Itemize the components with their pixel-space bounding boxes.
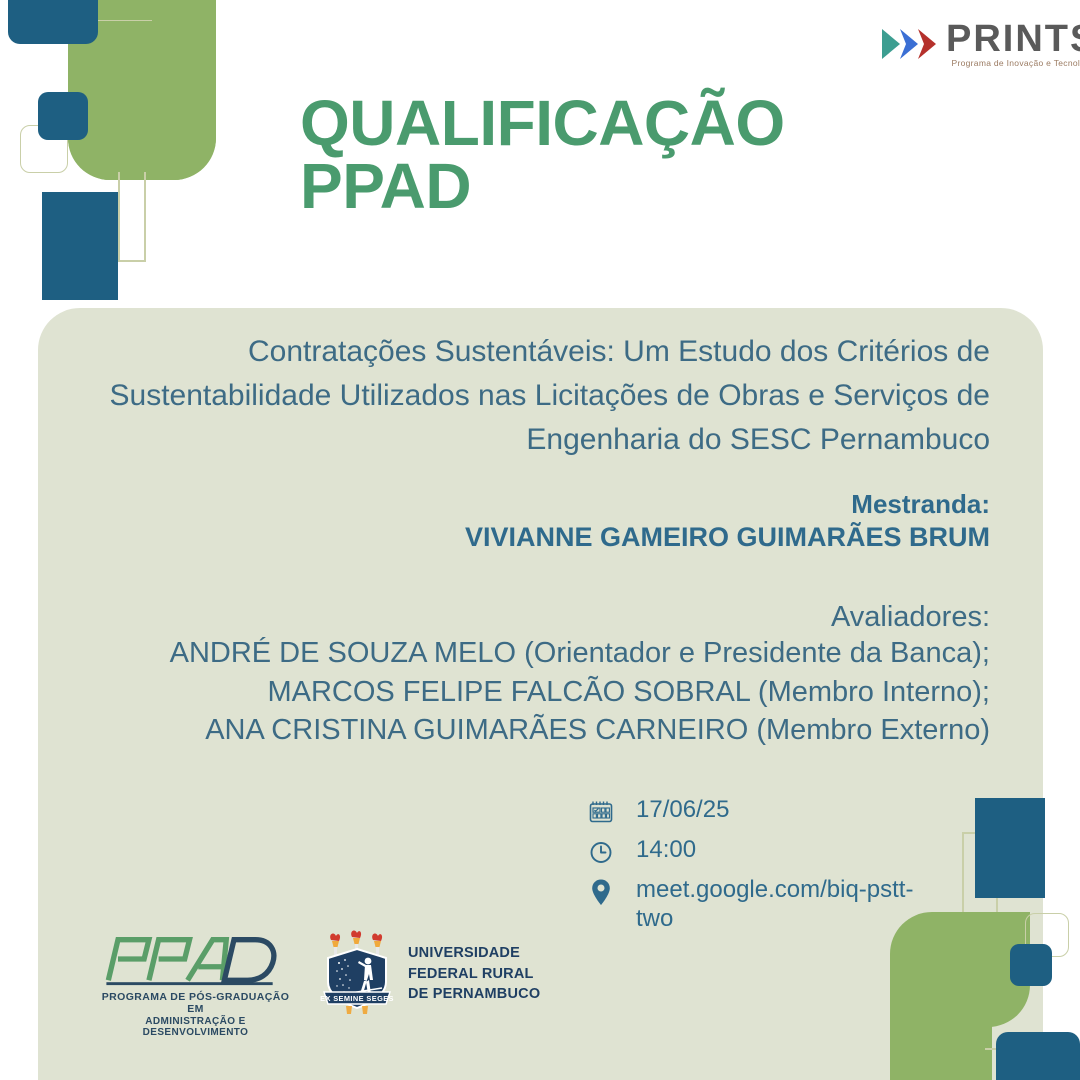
ufrpe-name: UNIVERSIDADE FEDERAL RURAL DE PERNAMBUCO xyxy=(408,943,540,1005)
ppad-wordmark-icon xyxy=(98,930,283,988)
decor-line-top-left-2 xyxy=(118,172,120,262)
decor-blue-pill-bottom-right xyxy=(996,1032,1080,1080)
location-pin-icon xyxy=(588,877,622,907)
event-info: 17/06/25 14:00 meet.google.com/biq-pstt-… xyxy=(588,795,918,942)
candidate-role-label: Mestranda: xyxy=(90,489,990,520)
decor-line-top-left-3 xyxy=(118,260,146,262)
thesis-title: Contratações Sustentáveis: Um Estudo dos… xyxy=(90,330,990,461)
ppad-subtitle-line-1: PROGRAMA DE PÓS-GRADUAÇÃO EM xyxy=(98,991,293,1015)
ufrpe-logo: EX SEMINE SEGES UNIVERSIDADE FEDERAL RUR… xyxy=(318,930,540,1018)
decor-green-block-bottom-right-lower xyxy=(890,985,992,1080)
candidate-name: VIVIANNE GAMEIRO GUIMARÃES BRUM xyxy=(90,522,990,553)
ufrpe-motto: EX SEMINE SEGES xyxy=(320,994,394,1003)
decor-line-top-left-4 xyxy=(144,172,146,262)
decor-line-bottom-right-1 xyxy=(962,832,964,918)
ufrpe-name-line-2: FEDERAL RURAL xyxy=(408,964,540,985)
prints-logo: PRINTS Programa de Inovação e Tecnologia xyxy=(880,18,1070,70)
page-title: QUALIFICAÇÃO PPAD xyxy=(300,92,1000,217)
poster-canvas: PRINTS Programa de Inovação e Tecnologia… xyxy=(0,0,1080,1080)
evaluator-item: ANA CRISTINA GUIMARÃES CARNEIRO (Membro … xyxy=(90,711,990,749)
decor-blue-square-top-left xyxy=(38,92,88,140)
event-time-row: 14:00 xyxy=(588,835,918,867)
event-location-row[interactable]: meet.google.com/biq-pstt-two xyxy=(588,875,918,934)
event-date-row: 17/06/25 xyxy=(588,795,918,827)
event-time: 14:00 xyxy=(636,835,696,864)
evaluators-block: Avaliadores: ANDRÉ DE SOUZA MELO (Orient… xyxy=(90,601,990,749)
page-title-line-2: PPAD xyxy=(300,155,1000,218)
decor-line-top-left-1 xyxy=(92,20,152,21)
decor-blue-block-top-left xyxy=(8,0,98,44)
page-title-line-1: QUALIFICAÇÃO xyxy=(300,92,1000,155)
chevron-triple-icon xyxy=(880,27,940,61)
evaluator-item: ANDRÉ DE SOUZA MELO (Orientador e Presid… xyxy=(90,634,990,672)
content-block: Contratações Sustentáveis: Um Estudo dos… xyxy=(90,330,990,749)
ufrpe-name-line-1: UNIVERSIDADE xyxy=(408,943,540,964)
ufrpe-name-line-3: DE PERNAMBUCO xyxy=(408,984,540,1005)
calendar-icon xyxy=(588,797,622,827)
clock-icon xyxy=(588,837,622,867)
event-date: 17/06/25 xyxy=(636,795,729,824)
ufrpe-crest-icon: EX SEMINE SEGES xyxy=(318,930,396,1018)
candidate-block: Mestranda: VIVIANNE GAMEIRO GUIMARÃES BR… xyxy=(90,489,990,553)
torch-right xyxy=(372,933,382,955)
event-location[interactable]: meet.google.com/biq-pstt-two xyxy=(636,875,918,934)
prints-wordmark: PRINTS xyxy=(946,20,1080,58)
decor-blue-square-bottom-right xyxy=(1010,944,1052,986)
torch-left xyxy=(330,933,340,955)
ppad-subtitle-line-2: ADMINISTRAÇÃO E DESENVOLVIMENTO xyxy=(98,1016,293,1038)
ppad-logo: PROGRAMA DE PÓS-GRADUAÇÃO EM ADMINISTRAÇ… xyxy=(98,930,293,1038)
prints-chevrons-icon xyxy=(880,27,940,61)
prints-tagline: Programa de Inovação e Tecnologia xyxy=(946,59,1080,68)
decor-blue-rect-top-left xyxy=(42,192,118,300)
decor-blue-rect-bottom-right xyxy=(975,798,1045,898)
evaluator-item: MARCOS FELIPE FALCÃO SOBRAL (Membro Inte… xyxy=(90,673,990,711)
evaluators-label: Avaliadores: xyxy=(90,601,990,634)
